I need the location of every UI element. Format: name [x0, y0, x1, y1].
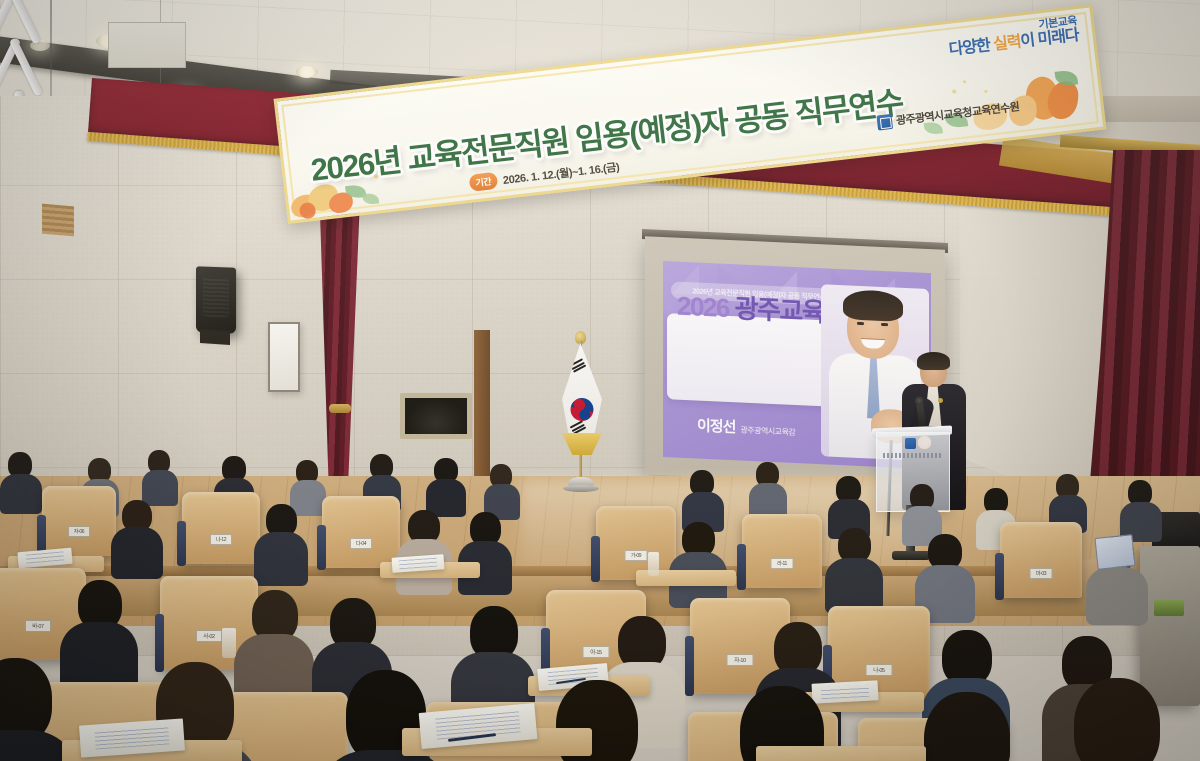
auditorium-scene-photo: 2026년 교육전문직원 임용(예정)자 공동 직무연수 기간 2026. 1.… [0, 0, 1200, 761]
seat-number-tag: 사-02 [196, 630, 222, 642]
seat-side-panel [177, 521, 186, 566]
speaker-lapel-badge [938, 398, 943, 403]
portrait-hair [843, 289, 903, 322]
seat-number-tag: 자-10 [727, 654, 754, 666]
ceiling-air-diffuser [108, 22, 186, 68]
seat-side-panel [591, 536, 600, 582]
tablet-device [1094, 534, 1135, 570]
seat-desk [756, 746, 926, 761]
trigram-icon [570, 358, 587, 373]
slide-presenter: 이정선 광주광역시교육감 [697, 415, 795, 440]
seat-number-tag: 마-03 [1030, 568, 1053, 579]
period-badge: 기간 [469, 172, 498, 192]
seat-side-panel [995, 553, 1004, 600]
portrait-eye [881, 323, 888, 326]
banner-slogan: 기본교육 다양한 실력이 미래다 [947, 15, 1080, 60]
water-bottle [648, 552, 659, 576]
wood-louver-vent [42, 204, 74, 237]
seat-number-tag: 라-11 [771, 558, 794, 569]
wall-vent [400, 393, 472, 439]
trigram-icon [570, 420, 587, 435]
wall-speaker [196, 266, 236, 333]
seat-number-tag: 나-12 [210, 534, 232, 545]
auditorium-seat[interactable]: 나-12 [182, 492, 260, 564]
water-bottle [222, 628, 236, 658]
slide-headline-year: 2026 [677, 291, 729, 323]
curtain-tieback [329, 404, 351, 413]
seat-side-panel [737, 544, 746, 590]
ceiling-downlight [296, 66, 318, 78]
seat-side-panel [685, 636, 694, 696]
portrait-eye [857, 322, 864, 325]
open-booklet [812, 680, 879, 703]
seat-number-tag: 나-05 [866, 664, 893, 676]
seat-number-tag: 다-04 [350, 538, 372, 549]
education-office-logo-icon [876, 113, 893, 130]
seat-number-tag: 아-15 [583, 646, 610, 658]
seat-side-panel [155, 614, 164, 672]
presenter-name: 이정선 [697, 415, 735, 438]
audience-seating-area: 자-06 나-12 다-04 가-09 라-11 마-03 [0, 440, 1200, 761]
auditorium-seat[interactable]: 라-11 [742, 514, 822, 588]
presenter-role: 광주광역시교육감 [740, 425, 795, 438]
slogan-part-b: 실력 [992, 34, 1021, 54]
slide-headline: 2026 광주교육 [677, 286, 824, 330]
slogan-part-a: 다양한 [948, 37, 994, 59]
speaker-hair [917, 352, 950, 370]
seat-number-tag: 가-09 [625, 550, 648, 561]
auditorium-seat[interactable]: 다-04 [322, 496, 400, 568]
slide-headline-main: 광주교육 [729, 293, 824, 327]
auditorium-seat[interactable]: 가-09 [596, 506, 676, 580]
auditorium-seat[interactable]: 마-03 [1000, 522, 1082, 598]
speaker-bracket [200, 329, 230, 345]
auditorium-seat[interactable]: 자-06 [42, 486, 116, 556]
seat-number-tag: 바-07 [25, 620, 51, 632]
seat-side-panel [317, 525, 326, 570]
seat-number-tag: 자-06 [68, 526, 90, 537]
wall-notice-board [268, 322, 300, 392]
